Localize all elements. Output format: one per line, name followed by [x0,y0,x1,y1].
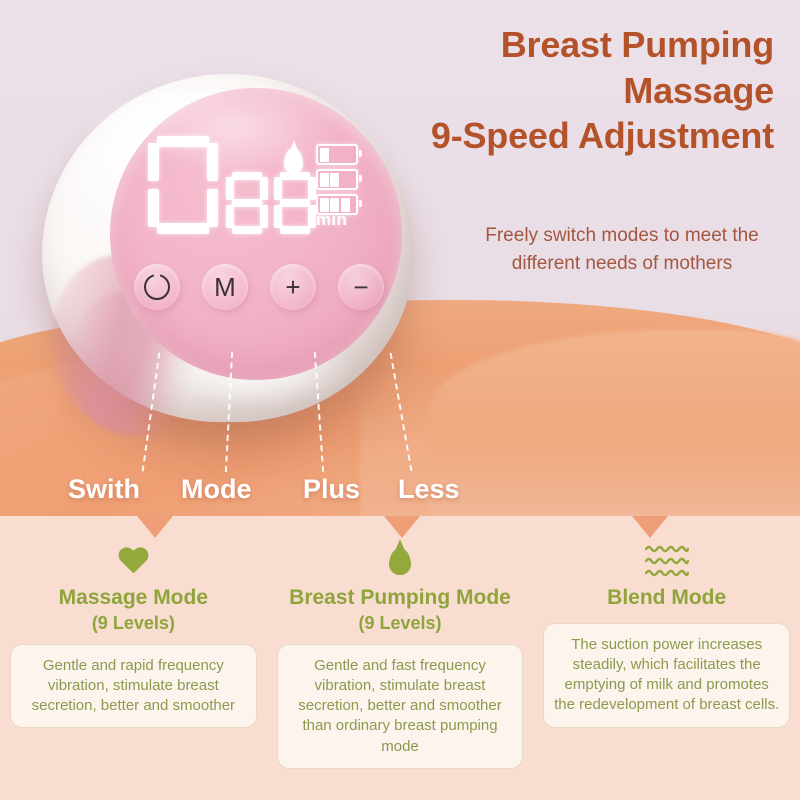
mode-description-pumping: Gentle and fast frequency vibration, sti… [277,644,524,768]
power-button[interactable] [134,264,180,310]
headline-line-2: Massage [374,68,774,114]
plus-icon: + [285,274,300,300]
notch-pumping [384,516,420,538]
product-infographic: min M + − [0,0,800,800]
battery-icon-low [316,144,358,165]
notch-massage [137,516,173,538]
callout-less: Less [398,474,460,505]
lcd-digit-ones [274,172,316,234]
lcd-display: min [148,136,366,236]
mode-columns: Massage Mode (9 Levels) Gentle and rapid… [0,538,800,769]
callout-switch: Swith [68,474,140,505]
mode-title-massage: Massage Mode [59,586,208,610]
callout-plus: Plus [303,474,360,505]
power-icon [144,274,170,300]
notch-blend [632,516,668,538]
mode-title-pumping: Breast Pumping Mode [289,586,511,610]
mode-title-blend: Blend Mode [607,586,726,610]
mode-levels-massage: (9 Levels) [92,613,175,634]
mode-description-massage: Gentle and rapid frequency vibration, st… [10,644,257,728]
droplet-icon [389,542,411,580]
heart-icon [118,542,148,580]
subtext: Freely switch modes to meet the differen… [472,222,772,277]
mode-levels-pumping: (9 Levels) [358,613,441,634]
breast-pump-device: min M + − [42,74,414,422]
minus-icon: − [353,274,368,300]
callout-labels: Swith Mode Plus Less [0,474,800,516]
mode-column-blend[interactable]: Blend Mode The suction power increases s… [533,538,800,769]
mode-column-massage[interactable]: Massage Mode (9 Levels) Gentle and rapid… [0,538,267,769]
mode-description-blend: The suction power increases steadily, wh… [543,623,790,727]
minus-button[interactable]: − [338,264,384,310]
waves-icon [645,542,689,580]
headline-line-1: Breast Pumping [374,22,774,68]
lcd-unit-label: min [316,210,347,230]
mode-button-label: M [214,274,236,300]
battery-icon-mid [316,169,358,190]
plus-button[interactable]: + [270,264,316,310]
touch-face[interactable]: min M + − [110,88,402,380]
modes-panel: Massage Mode (9 Levels) Gentle and rapid… [0,516,800,800]
button-row: M + − [134,264,384,320]
headline-line-3: 9-Speed Adjustment [374,113,774,159]
lcd-digit-main [148,136,218,234]
product-photo: min M + − [0,0,800,516]
droplet-icon [284,148,303,174]
mode-column-pumping[interactable]: Breast Pumping Mode (9 Levels) Gentle an… [267,538,534,769]
lcd-digit-tens [226,172,268,234]
mode-button[interactable]: M [202,264,248,310]
headline: Breast Pumping Massage 9-Speed Adjustmen… [374,22,774,159]
callout-mode: Mode [181,474,252,505]
